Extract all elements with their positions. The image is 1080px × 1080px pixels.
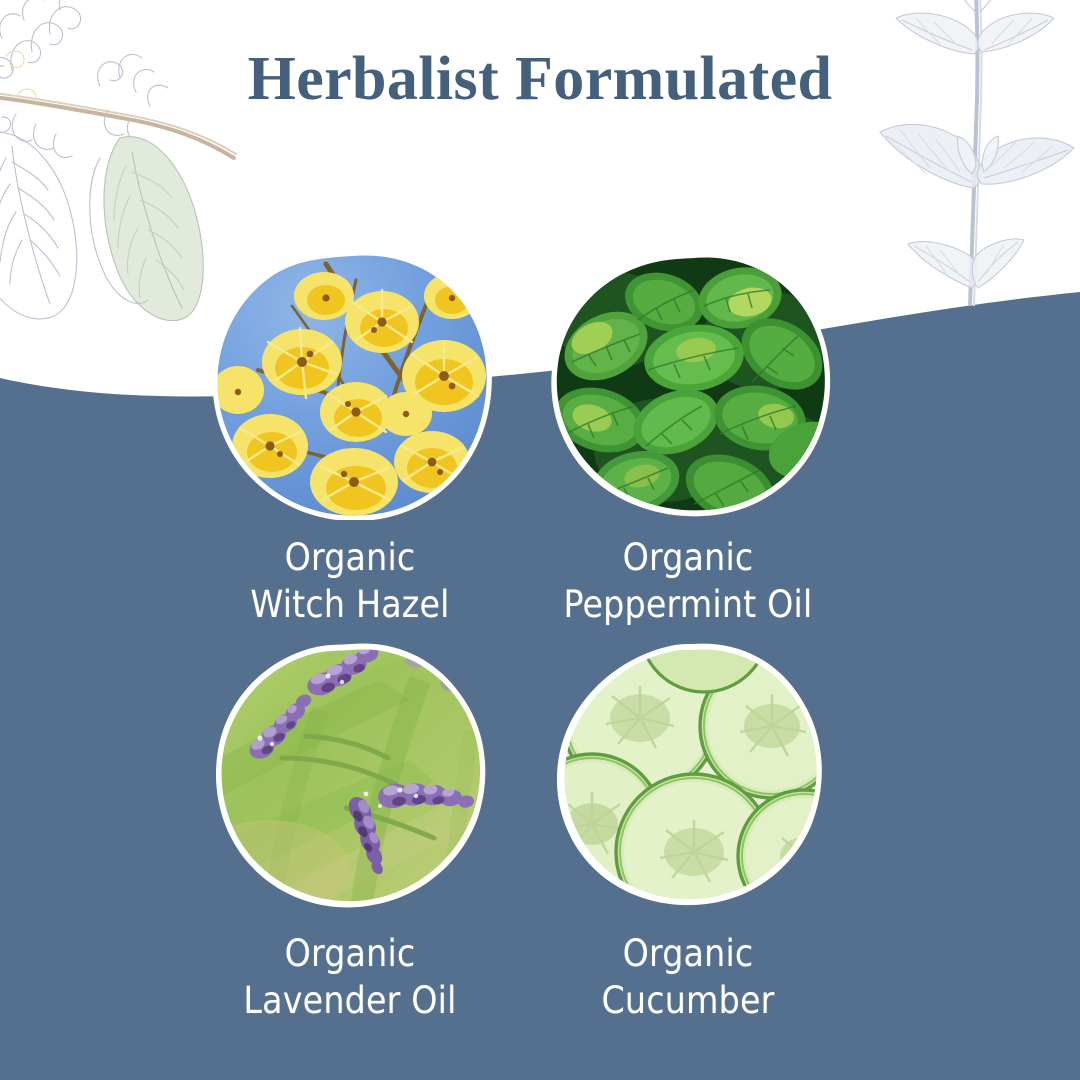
poster-canvas: Herbalist Formulated: [0, 0, 1080, 1080]
ingredient-card-cucumber[interactable]: Organic Cucumber: [478, 640, 898, 1024]
ingredient-grid: Organic Witch Hazel: [0, 250, 1080, 1030]
ingredient-photo-cucumber: [548, 640, 828, 916]
ingredient-photo-witch-hazel: [206, 250, 494, 520]
ingredient-label-peppermint-oil: Organic Peppermint Oil: [478, 534, 898, 628]
ingredient-row: Organic Lavender Oil: [0, 640, 1080, 1030]
ingredient-label-cucumber: Organic Cucumber: [478, 930, 898, 1024]
ingredient-row: Organic Witch Hazel: [0, 250, 1080, 640]
ingredient-photo-lavender-oil: [210, 640, 490, 916]
ingredient-photo-peppermint-oil: [544, 250, 832, 520]
ingredient-card-peppermint-oil[interactable]: Organic Peppermint Oil: [478, 250, 898, 628]
page-title: Herbalist Formulated: [0, 46, 1080, 113]
